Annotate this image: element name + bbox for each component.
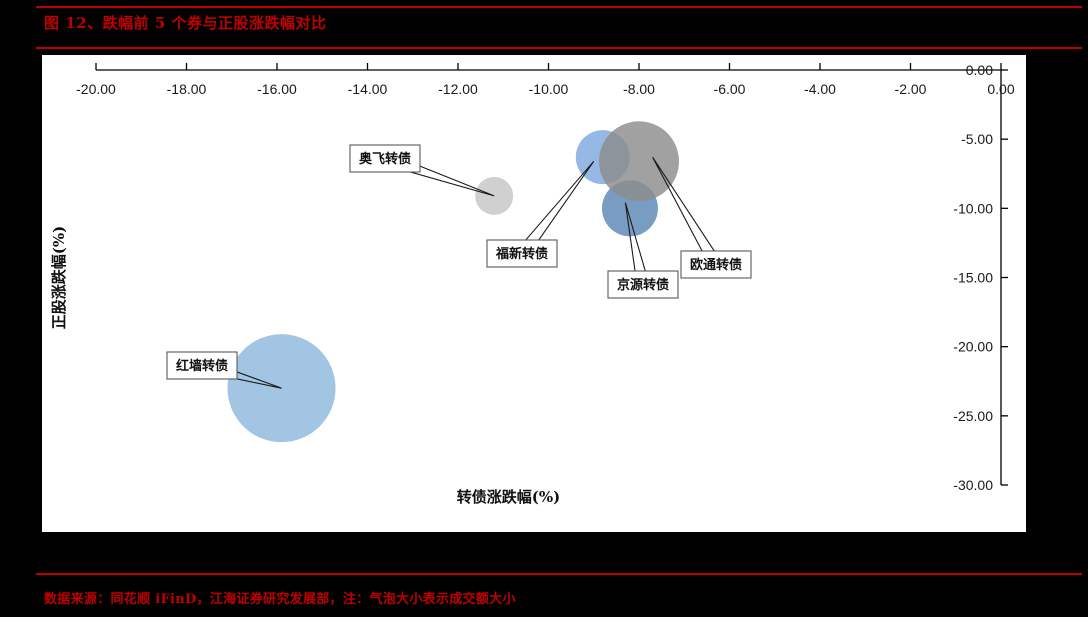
y-tick-label: -10.00 — [953, 200, 993, 216]
y-tick-label: -15.00 — [953, 270, 993, 286]
callout-label-红墙转债: 红墙转债 — [176, 358, 228, 374]
x-tick-label: -18.00 — [167, 81, 207, 97]
x-tick-label: -14.00 — [348, 81, 388, 97]
x-tick-label: -12.00 — [438, 81, 478, 97]
bubble-欧通转债 — [599, 121, 679, 201]
y-axis-ticks — [1001, 70, 1008, 485]
y-tick-label: -20.00 — [953, 339, 993, 355]
x-tick-label: -4.00 — [804, 81, 836, 97]
y-tick-label: -30.00 — [953, 477, 993, 493]
y-axis-tick-labels: 0.00-5.00-10.00-15.00-20.00-25.00-30.00 — [953, 62, 993, 493]
x-tick-label: -20.00 — [76, 81, 116, 97]
callout-label-奥飞转债: 奥飞转债 — [359, 151, 411, 167]
plot-panel: -20.00-18.00-16.00-14.00-12.00-10.00-8.0… — [42, 55, 1026, 532]
x-tick-label: -8.00 — [623, 81, 655, 97]
bottom-divider-rule — [36, 573, 1082, 575]
y-tick-label: -5.00 — [961, 131, 993, 147]
chart-title: 图 12、跌幅前 5 个券与正股涨跌幅对比 — [44, 12, 326, 33]
callout-label-欧通转债: 欧通转债 — [690, 257, 742, 273]
callout-label-京源转债: 京源转债 — [617, 277, 669, 293]
x-tick-label: -2.00 — [895, 81, 927, 97]
x-tick-label: -6.00 — [714, 81, 746, 97]
x-tick-label: 0.00 — [987, 81, 1014, 97]
x-axis-title: 转债涨跌幅(%) — [457, 488, 560, 506]
callout-label-福新转债: 福新转债 — [495, 246, 548, 262]
x-axis-tick-labels: -20.00-18.00-16.00-14.00-12.00-10.00-8.0… — [76, 81, 1015, 97]
y-tick-label: -25.00 — [953, 408, 993, 424]
scatter-plot-svg: -20.00-18.00-16.00-14.00-12.00-10.00-8.0… — [42, 55, 1026, 532]
axes-group: -20.00-18.00-16.00-14.00-12.00-10.00-8.0… — [76, 62, 1015, 493]
y-axis-title: 正股涨跌幅(%) — [50, 226, 68, 329]
top-divider-rule — [36, 6, 1082, 8]
title-underline-rule — [36, 47, 1082, 49]
x-axis-ticks — [96, 63, 1001, 70]
source-note: 数据来源：同花顺 iFinD，江海证券研究发展部，注：气泡大小表示成交额大小 — [44, 588, 516, 607]
x-tick-label: -10.00 — [529, 81, 569, 97]
y-tick-label: 0.00 — [966, 62, 993, 78]
x-tick-label: -16.00 — [257, 81, 297, 97]
figure-root: 图 12、跌幅前 5 个券与正股涨跌幅对比 -20.00-18.00-16.00… — [0, 0, 1088, 617]
